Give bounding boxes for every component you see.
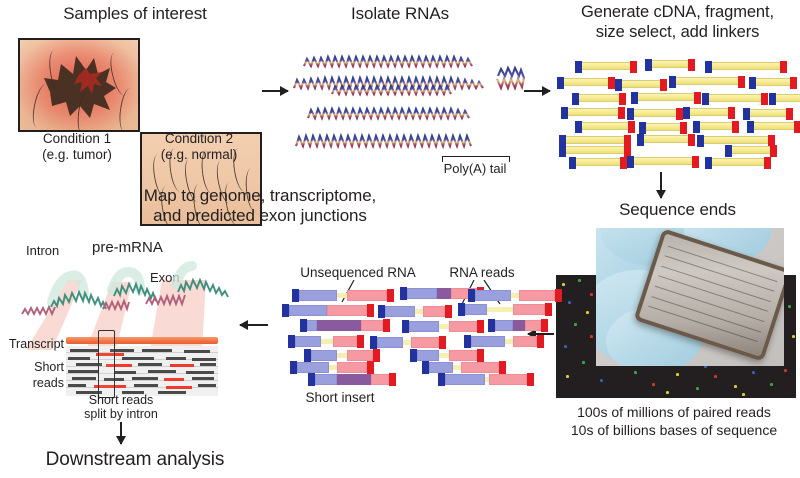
read-pair <box>370 337 446 347</box>
cdna-heading-line1: Generate cDNA, fragment, <box>555 2 800 22</box>
samples-heading: Samples of interest <box>10 4 260 24</box>
rna-strands-illustration <box>288 36 538 166</box>
downstream-analysis-heading: Downstream analysis <box>10 450 260 470</box>
map-heading-line1: Map to genome, transcriptome, <box>100 186 420 206</box>
arrow-reads-to-map <box>240 324 268 326</box>
cdna-fragment-pool <box>552 56 800 166</box>
arrow-map-to-downstream <box>120 422 122 444</box>
sequence-caption-line1: 100s of millions of paired reads <box>548 404 800 420</box>
pre-mrna-strand <box>18 252 238 320</box>
read-pair <box>304 350 380 360</box>
read-pair <box>458 304 552 314</box>
read-pair <box>422 362 506 372</box>
split-reads-label-line2: split by intron <box>56 406 186 422</box>
read-pair <box>402 321 484 331</box>
rnaseq-workflow-figure: Samples of interest Condition 1 (e.g. tu… <box>0 0 800 478</box>
transcript-label: Transcript <box>2 336 64 352</box>
condition-1-label-line1: Condition 1 <box>8 131 146 147</box>
short-insert-label: Short insert <box>285 390 395 406</box>
unsequenced-rna-label: Unsequenced RNA <box>288 265 428 281</box>
arrow-isolate-to-cdna <box>524 90 550 92</box>
paired-reads-pool <box>282 288 530 386</box>
read-pair <box>300 320 390 330</box>
condition-1-panel <box>18 38 140 132</box>
read-pair <box>292 290 394 300</box>
sequence-ends-heading: Sequence ends <box>570 200 785 220</box>
short-reads-pileup <box>66 346 218 396</box>
read-pair <box>464 336 544 346</box>
read-pair <box>488 320 548 330</box>
condition-2-label-line1: Condition 2 <box>130 131 268 147</box>
arrow-samples-to-isolate <box>262 90 288 92</box>
sequence-caption-line2: 10s of billions bases of sequence <box>548 422 800 438</box>
rna-reads-label: RNA reads <box>432 265 532 281</box>
condition-2-label-line2: (e.g. normal) <box>130 147 268 163</box>
read-pair <box>468 290 562 300</box>
read-pair <box>308 374 396 384</box>
read-pair <box>410 350 484 360</box>
read-pair <box>282 305 374 315</box>
read-pair <box>378 306 452 316</box>
arrow-cdna-to-sequence <box>660 172 662 198</box>
read-pair <box>438 374 534 384</box>
read-pair <box>288 336 364 346</box>
map-heading-line2: and predicted exon junctions <box>100 206 420 226</box>
transcript-bar <box>66 337 218 344</box>
intron-split-highlight-box <box>98 330 115 398</box>
flowcell-photo <box>596 228 784 366</box>
read-pair <box>290 362 374 372</box>
short-reads-label: Short reads <box>2 359 64 391</box>
cdna-heading-line2: size select, add linkers <box>555 22 800 42</box>
condition-1-label-line2: (e.g. tumor) <box>8 147 146 163</box>
polya-tail-label: Poly(A) tail <box>420 161 530 177</box>
isolate-rnas-heading: Isolate RNAs <box>300 4 500 24</box>
